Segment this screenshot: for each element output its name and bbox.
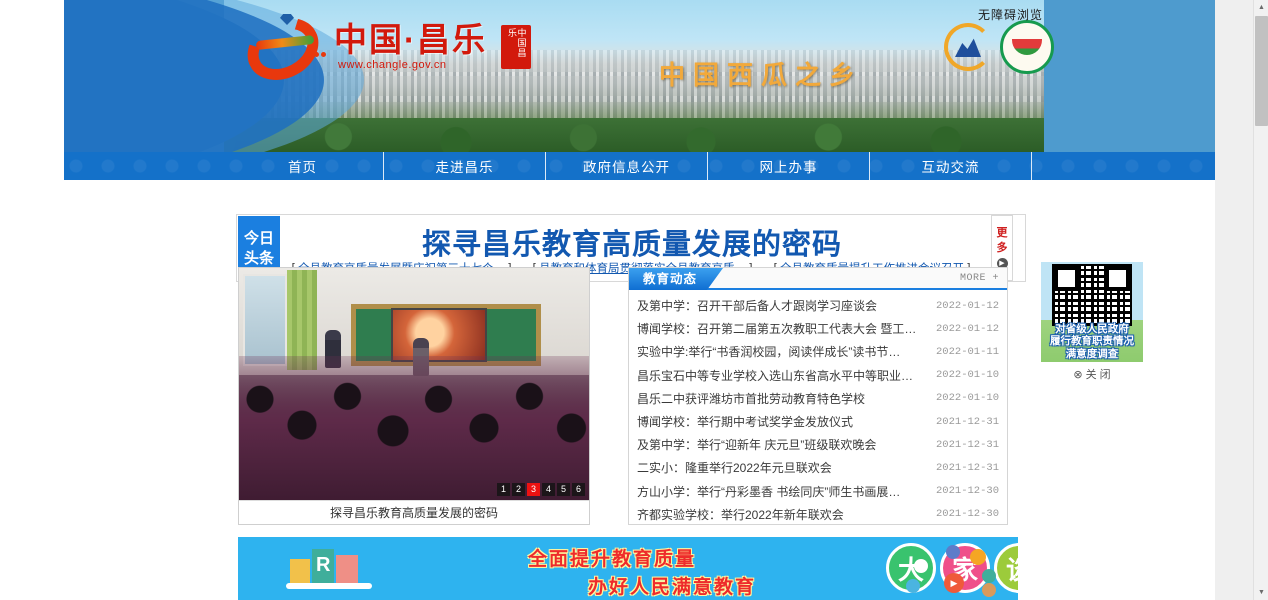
mountain-emblem-icon (944, 23, 992, 71)
classroom-curtain (287, 270, 317, 370)
news-item-title[interactable]: 昌乐宝石中等专业学校入选山东省高水平中等职业… (637, 367, 913, 384)
network-node (982, 569, 996, 583)
news-panel: 教育动态 MORE + 及第中学：召开干部后备人才跟岗学习座谈会 2022-01… (628, 267, 1008, 525)
news-item-title[interactable]: 二实小：隆重举行2022年元旦联欢会 (637, 459, 832, 476)
network-node (946, 545, 960, 559)
carousel-page-5[interactable]: 5 (557, 483, 570, 496)
news-item-date: 2021-12-31 (936, 439, 999, 451)
scroll-up-arrow-icon[interactable]: ▲ (1254, 0, 1268, 15)
page-background-right (1215, 0, 1253, 600)
site-wrapper: 中国·昌乐 www.changle.gov.cn 中国昌乐 中国西瓜之乡 无障碍… (64, 0, 1215, 600)
site-logo[interactable]: 中国·昌乐 www.changle.gov.cn 中国昌乐 (244, 14, 531, 80)
building-base (286, 583, 372, 589)
news-item-date: 2022-01-11 (936, 346, 999, 358)
news-item[interactable]: 博闻学校：举行期中考试奖学金发放仪式 2021-12-31 (637, 410, 999, 433)
survey-qr-widget: 对省级人民政府 履行教育职责情况 满意度调查 ⊗ 关 闭 (1041, 262, 1143, 382)
carousel-page-4[interactable]: 4 (542, 483, 555, 496)
news-item-title[interactable]: 及第中学：召开干部后备人才跟岗学习座谈会 (637, 297, 877, 314)
education-quality-banner[interactable]: R 全面提升教育质量 办好人民满意教育 大 家 谈 (238, 537, 1018, 600)
featured-carousel[interactable]: 1 2 3 4 5 6 探寻昌乐教育高质量发展的密码 (238, 267, 590, 525)
news-item-date: 2021-12-31 (936, 462, 999, 474)
watermelon-emblem-icon (1000, 20, 1054, 74)
news-item[interactable]: 及第中学：举行“迎新年 庆元旦”班级联欢晚会 2021-12-31 (637, 433, 999, 456)
headline-title-link[interactable]: 探寻昌乐教育高质量发展的密码 (237, 221, 1027, 263)
news-item[interactable]: 二实小：隆重举行2022年元旦联欢会 2021-12-31 (637, 456, 999, 479)
logo-dots (307, 44, 328, 62)
news-item[interactable]: 方山小学：举行“丹彩墨香 书绘同庆”师生书画展… 2021-12-30 (637, 480, 999, 503)
news-item-title[interactable]: 实验中学:举行“书香润校园，阅读伴成长”读书节… (637, 343, 900, 360)
news-more-link[interactable]: MORE + (960, 268, 999, 290)
classroom-students (239, 356, 589, 500)
scroll-down-arrow-icon[interactable]: ▼ (1254, 585, 1268, 600)
banner-slogan: 中国西瓜之乡 (659, 55, 863, 92)
news-item-date: 2021-12-31 (936, 416, 999, 428)
news-item[interactable]: 及第中学：召开干部后备人才跟岗学习座谈会 2022-01-12 (637, 294, 999, 317)
news-item[interactable]: 实验中学:举行“书香润校园，阅读伴成长”读书节… 2022-01-11 (637, 340, 999, 363)
carousel-caption[interactable]: 探寻昌乐教育高质量发展的密码 (239, 500, 589, 524)
news-item-date: 2021-12-30 (936, 508, 999, 520)
news-item-date: 2021-12-30 (936, 485, 999, 497)
main-navigation: 首页 走进昌乐 政府信息公开 网上办事 互动交流 (64, 152, 1215, 180)
logo-seal-icon: 中国昌乐 (501, 25, 531, 69)
accessible-browsing-link[interactable]: 无障碍浏览 (978, 6, 1043, 23)
building-bar-3 (336, 555, 358, 583)
main-content: 今日 头条 探寻昌乐教育高质量发展的密码 [ 全县教育高质量发展暨庆祝第三十七个… (64, 180, 1215, 600)
site-banner: 中国·昌乐 www.changle.gov.cn 中国昌乐 中国西瓜之乡 无障碍… (64, 0, 1215, 152)
building-bar-1 (290, 559, 310, 583)
nav-item-about-changle[interactable]: 走进昌乐 (384, 152, 546, 180)
qr-caption-line1: 对省级人民政府 (1055, 323, 1129, 335)
more-label-line2: 多 (997, 242, 1008, 255)
page-scrollbar[interactable]: ▲ ▼ (1253, 0, 1268, 600)
banner-slogan-line1: 全面提升教育质量 (528, 549, 696, 570)
news-item[interactable]: 博闻学校：召开第二届第五次教职工代表大会 暨工… 2022-01-12 (637, 317, 999, 340)
news-item-title[interactable]: 博闻学校：召开第二届第五次教职工代表大会 暨工… (637, 320, 916, 337)
qr-caption-line3: 满意度调查 (1066, 348, 1119, 360)
carousel-page-1[interactable]: 1 (497, 483, 510, 496)
banner-right-fill (1044, 0, 1215, 152)
classroom-window (243, 274, 287, 366)
banner-letter-r: R (316, 554, 330, 577)
network-node (970, 549, 986, 565)
nav-item-government-info[interactable]: 政府信息公开 (546, 152, 708, 180)
news-item-date: 2022-01-12 (936, 323, 999, 335)
nav-item-online-services[interactable]: 网上办事 (708, 152, 870, 180)
tab-education-news[interactable]: 教育动态 (629, 268, 723, 290)
survey-qr-card[interactable]: 对省级人民政府 履行教育职责情况 满意度调查 (1041, 262, 1143, 362)
qr-caption-line2: 履行教育职责情况 (1050, 335, 1134, 347)
news-item-title[interactable]: 昌乐二中获评潍坊市首批劳动教育特色学校 (637, 390, 865, 407)
nav-item-interaction[interactable]: 互动交流 (870, 152, 1032, 180)
news-item[interactable]: 昌乐宝石中等专业学校入选山东省高水平中等职业… 2022-01-10 (637, 364, 999, 387)
network-node (914, 559, 928, 573)
news-item-title[interactable]: 齐都实验学校：举行2022年新年联欢会 (637, 506, 844, 523)
news-item-title[interactable]: 方山小学：举行“丹彩墨香 书绘同庆”师生书画展… (637, 483, 900, 500)
nav-left-spacer (64, 152, 222, 180)
carousel-page-3-active[interactable]: 3 (527, 483, 540, 496)
news-list: 及第中学：召开干部后备人才跟岗学习座谈会 2022-01-12 博闻学校：召开第… (629, 290, 1007, 526)
more-label-line1: 更 (997, 227, 1008, 240)
browser-viewport: 中国·昌乐 www.changle.gov.cn 中国昌乐 中国西瓜之乡 无障碍… (0, 0, 1268, 600)
carousel-pagination: 1 2 3 4 5 6 (497, 483, 585, 496)
nav-item-home[interactable]: 首页 (222, 152, 384, 180)
logo-title: 中国·昌乐 (334, 23, 487, 58)
scrollbar-thumb[interactable] (1255, 16, 1268, 126)
play-icon: ▶ (944, 573, 964, 593)
qr-close-button[interactable]: ⊗ 关 闭 (1041, 366, 1143, 382)
news-item[interactable]: 昌乐二中获评潍坊市首批劳动教育特色学校 2022-01-10 (637, 387, 999, 410)
banner-slogan-text: 全面提升教育质量 办好人民满意教育 (528, 546, 756, 600)
carousel-photo[interactable]: 1 2 3 4 5 6 (239, 268, 589, 500)
news-item-date: 2022-01-10 (936, 392, 999, 404)
news-item-date: 2022-01-10 (936, 369, 999, 381)
news-item-title[interactable]: 博闻学校：举行期中考试奖学金发放仪式 (637, 413, 853, 430)
news-item-date: 2022-01-12 (936, 300, 999, 312)
news-panel-header: 教育动态 MORE + (629, 268, 1007, 290)
carousel-page-6[interactable]: 6 (572, 483, 585, 496)
banner-slogan-line2: 办好人民满意教育 (588, 574, 756, 600)
classroom-projector-screen (391, 308, 487, 362)
logo-text-block: 中国·昌乐 www.changle.gov.cn (334, 23, 487, 72)
network-illustration: ▶ (904, 545, 1000, 593)
news-item[interactable]: 齐都实验学校：举行2022年新年联欢会 2021-12-30 (637, 503, 999, 526)
logo-url: www.changle.gov.cn (338, 59, 487, 71)
qr-code-icon[interactable] (1052, 264, 1132, 326)
buildings-icon: R (286, 549, 372, 589)
survey-qr-caption: 对省级人民政府 履行教育职责情况 满意度调查 (1041, 323, 1143, 360)
news-item-title[interactable]: 及第中学：举行“迎新年 庆元旦”班级联欢晚会 (637, 436, 876, 453)
carousel-page-2[interactable]: 2 (512, 483, 525, 496)
network-node (982, 583, 996, 597)
network-node (906, 579, 920, 593)
changle-e-icon (244, 14, 326, 80)
